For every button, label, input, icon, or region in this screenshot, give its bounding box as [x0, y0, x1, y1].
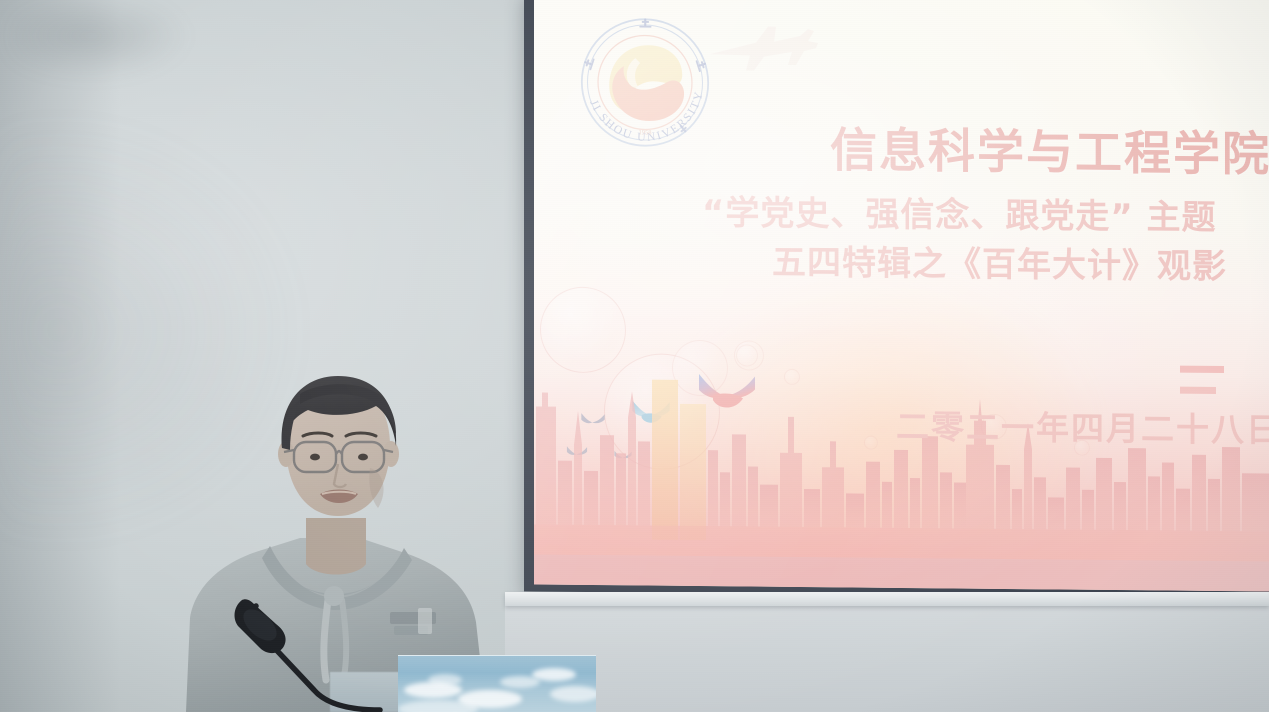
- scene-vignette: [0, 0, 1269, 712]
- room-photo-scene: JI SHOU UNIVERSITY 1958 信息科学与工程学院 “学党史、强…: [0, 0, 1269, 712]
